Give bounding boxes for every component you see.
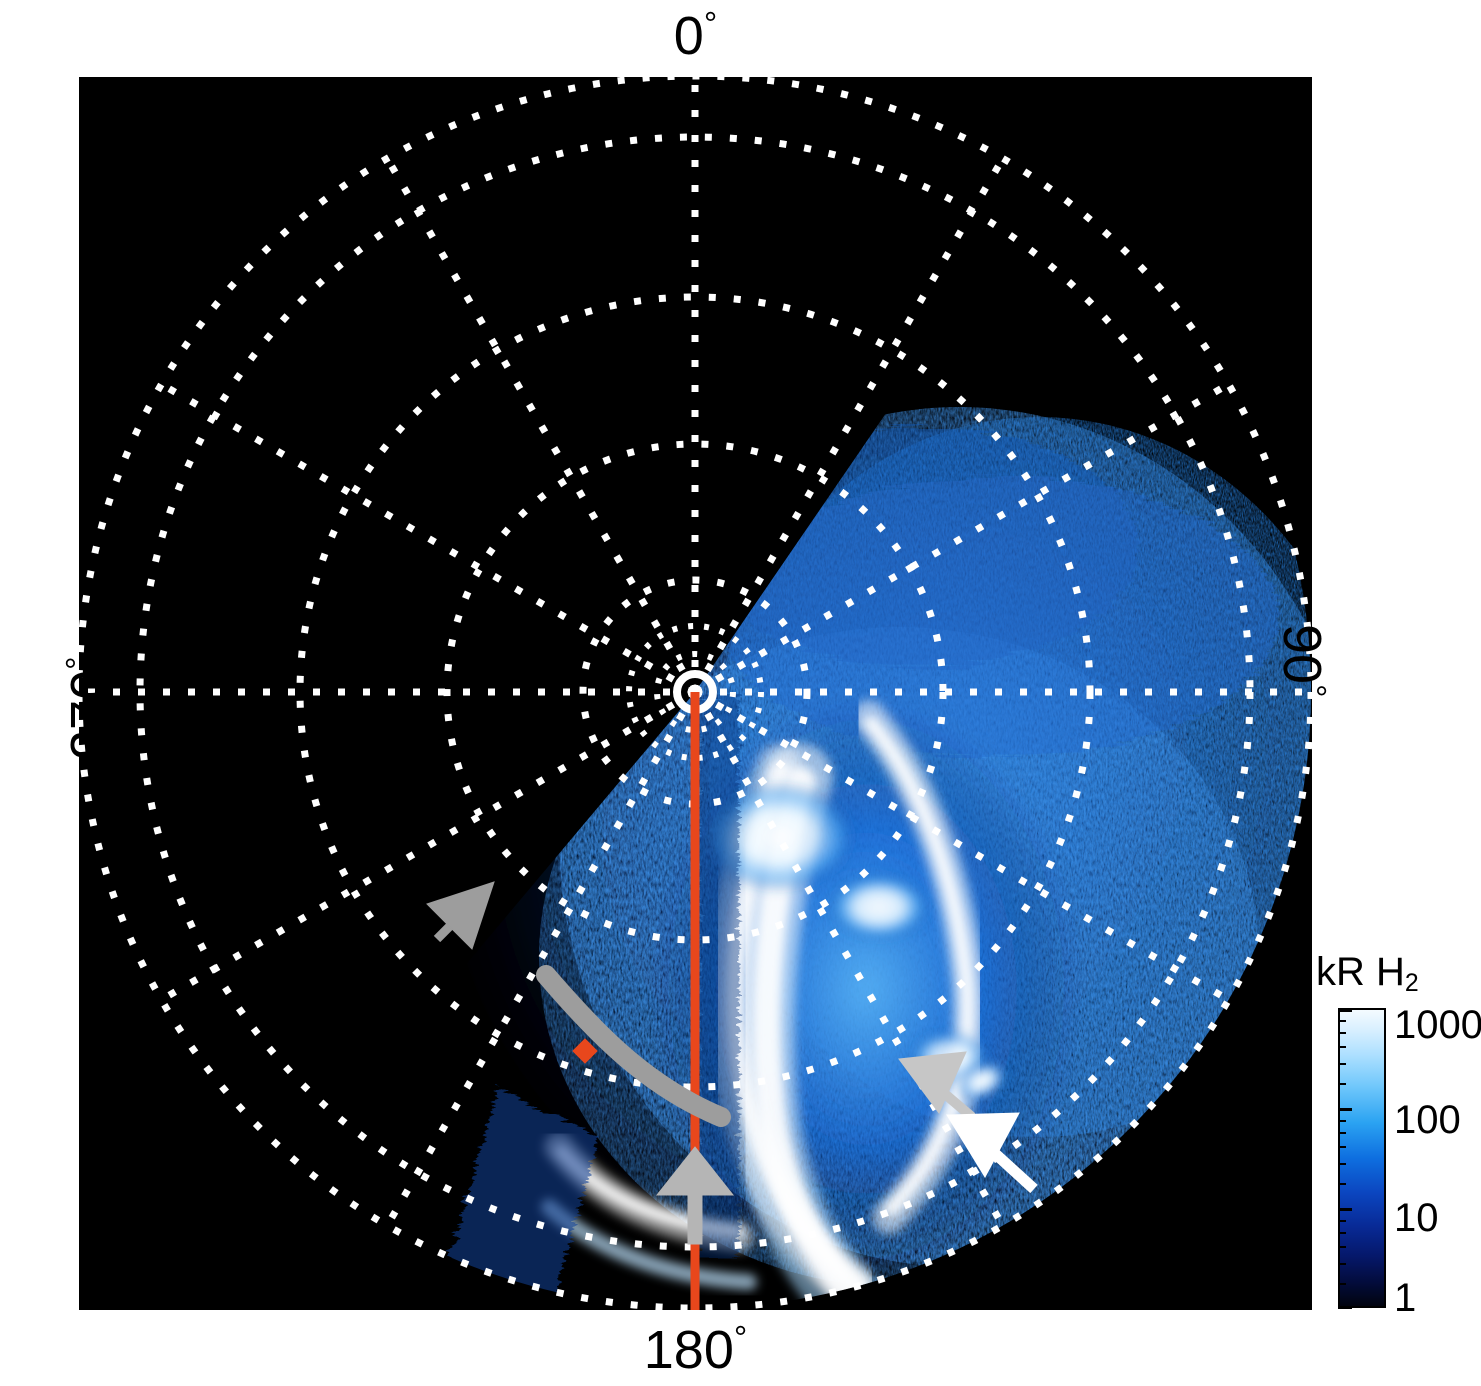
axis-label-0: 0°: [79, 8, 1312, 63]
colorbar-minor-tick: [1338, 1263, 1346, 1265]
colorbar-minor-tick: [1338, 1020, 1346, 1022]
colorbar-minor-tick: [1338, 1283, 1346, 1285]
colorbar-minor-tick: [1338, 1146, 1346, 1148]
colorbar-minor-tick: [1338, 1220, 1346, 1222]
colorbar-ticklabel-1000: 1000: [1394, 1005, 1481, 1045]
colorbar-tick-1000: [1338, 1009, 1352, 1012]
colorbar-label: kR H2: [1316, 950, 1419, 995]
colorbar-tick-10: [1338, 1208, 1352, 1211]
polar-plot-svg: [79, 77, 1312, 1310]
colorbar-minor-tick: [1338, 1063, 1346, 1065]
colorbar-minor-tick: [1338, 1120, 1346, 1122]
colorbar-minor-tick: [1338, 1032, 1346, 1034]
colorbar-minor-tick: [1338, 1083, 1346, 1085]
colorbar-minor-tick: [1338, 1183, 1346, 1185]
colorbar: kR H2 1000 100 10 1: [1312, 950, 1472, 1350]
axis-label-270: 270°: [62, 657, 117, 761]
colorbar-minor-tick: [1338, 1046, 1346, 1048]
colorbar-minor-tick: [1338, 1246, 1346, 1248]
colorbar-ticklabel-1: 1: [1394, 1278, 1416, 1318]
colorbar-minor-tick: [1338, 1132, 1346, 1134]
figure-root: 0° 180° 90° 270° kR H2 1000 100 10: [0, 0, 1481, 1386]
colorbar-tick-1: [1338, 1306, 1352, 1309]
polar-plot-area: [79, 77, 1312, 1310]
colorbar-minor-tick: [1338, 1163, 1346, 1165]
axis-label-90: 90°: [1275, 624, 1330, 697]
colorbar-ticklabel-100: 100: [1394, 1100, 1461, 1140]
colorbar-minor-tick: [1338, 1232, 1346, 1234]
colorbar-ticklabel-10: 10: [1394, 1198, 1439, 1238]
axis-label-180: 180°: [79, 1322, 1312, 1377]
colorbar-tick-100: [1338, 1108, 1352, 1111]
